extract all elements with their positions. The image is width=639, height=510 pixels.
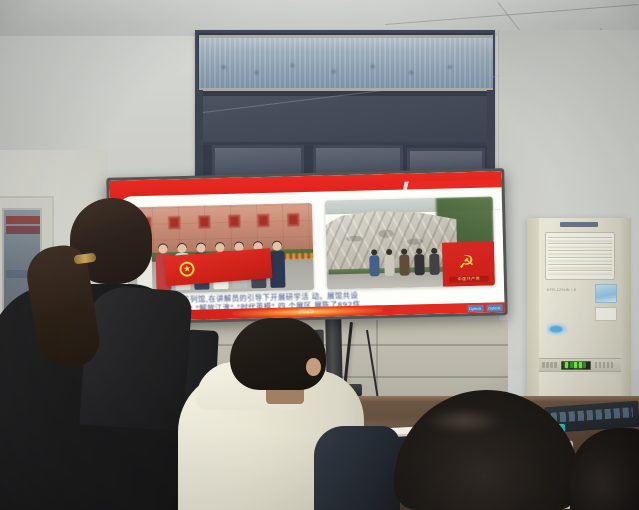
torso <box>399 254 410 275</box>
person <box>383 248 395 275</box>
ac-button[interactable] <box>599 362 602 368</box>
person <box>368 249 380 276</box>
window-blind <box>199 35 493 91</box>
communist-party-flag: ☭ 中国共产党 <box>442 241 495 286</box>
window-upper-glass <box>203 96 489 142</box>
torso <box>384 254 395 275</box>
inscription-character <box>198 215 210 228</box>
inscription-character <box>228 214 240 227</box>
ac-button-group-right[interactable] <box>595 362 614 368</box>
head <box>230 318 326 390</box>
jacket-shoulder <box>79 285 193 432</box>
ac-model-label: KFR-120LW / E <box>547 288 576 292</box>
blind-speckle <box>207 60 483 78</box>
seated-person-right-edge <box>570 428 639 510</box>
led-segment <box>583 362 586 368</box>
ac-info-sticker <box>595 307 617 321</box>
taskbar-item[interactable]: Dyteck <box>467 304 483 311</box>
ac-air-grille <box>545 232 615 280</box>
taskbar[interactable]: Dyteck Dyteck <box>467 302 503 313</box>
person <box>413 248 425 275</box>
standing-woman-black-jacket <box>0 196 188 510</box>
ac-slat <box>548 243 612 248</box>
ac-control-panel[interactable] <box>539 358 621 372</box>
inscription-character <box>287 213 299 226</box>
led-segment <box>579 362 582 368</box>
stone-relief-mural-photo: ☭ 中国共产党 <box>325 196 495 289</box>
adjacent-person-arm <box>314 426 400 510</box>
ac-button[interactable] <box>542 362 545 368</box>
torso <box>429 253 440 274</box>
taskbar-item[interactable]: Dyteck <box>486 304 502 311</box>
photo-scene: ★ <box>0 0 639 510</box>
ear <box>306 358 321 376</box>
seated-student-cream-hoodie <box>178 318 378 510</box>
led-segment <box>565 362 568 368</box>
slide-page-number: 2025 <box>298 307 314 317</box>
ac-button[interactable] <box>607 362 610 368</box>
ac-slat <box>548 270 612 275</box>
person <box>398 248 410 275</box>
ac-button[interactable] <box>611 362 614 368</box>
ac-slat <box>548 264 612 269</box>
ac-button[interactable] <box>554 362 557 368</box>
inscription-character <box>258 213 270 226</box>
ac-slat <box>548 257 612 262</box>
person <box>428 247 440 274</box>
flag-caption-text: 中国共产党 <box>449 276 489 283</box>
led-segment <box>570 362 573 368</box>
led-segment <box>574 362 577 368</box>
ac-led-display <box>561 361 591 370</box>
torso <box>369 255 380 276</box>
ac-button[interactable] <box>603 362 606 368</box>
head <box>394 390 580 510</box>
torso <box>414 254 425 275</box>
head <box>196 243 205 252</box>
seated-person-foreground <box>394 390 584 510</box>
ac-decal-graphic <box>547 322 573 338</box>
head <box>570 428 639 510</box>
hammer-and-sickle-icon: ☭ <box>453 251 480 274</box>
ac-button-group-left[interactable] <box>542 362 557 368</box>
hair-highlight <box>424 408 504 434</box>
ac-button[interactable] <box>550 362 553 368</box>
ac-button[interactable] <box>546 362 549 368</box>
ac-energy-label <box>595 284 617 303</box>
ac-slat <box>548 250 612 255</box>
ac-button[interactable] <box>595 362 598 368</box>
head <box>272 242 281 251</box>
ac-brand-logo <box>560 222 598 227</box>
ac-slat <box>548 237 612 242</box>
flag-caption-plate: 中国共产党 <box>449 276 489 283</box>
